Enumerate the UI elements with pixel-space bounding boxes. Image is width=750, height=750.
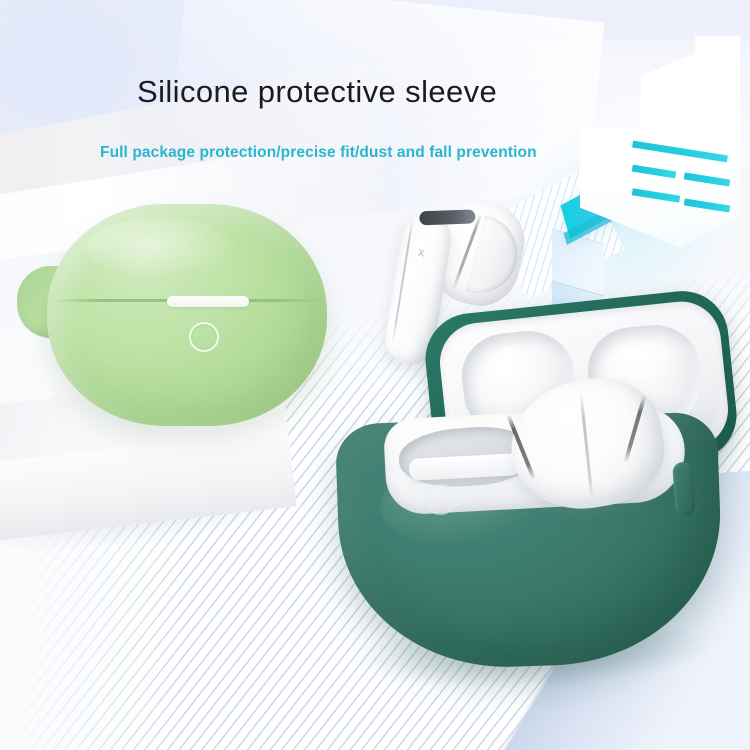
- earbud-logo-icon: x: [417, 245, 431, 261]
- led-indicator-ring-icon: [189, 322, 219, 352]
- earbud-notch: [419, 209, 475, 225]
- page-subtitle: Full package protection/precise fit/dust…: [100, 144, 537, 162]
- light-case-slot: [167, 296, 249, 307]
- dark-green-case: [333, 300, 743, 670]
- light-case-highlight: [87, 218, 237, 278]
- light-green-case: [17, 204, 327, 434]
- led-indicator-ring-icon-dark: [425, 484, 456, 515]
- product-poster: x Silicone protective sleeve Full packag…: [0, 0, 750, 750]
- side-button: [672, 461, 696, 516]
- decor-card: [580, 36, 740, 256]
- page-title: Silicone protective sleeve: [137, 74, 497, 110]
